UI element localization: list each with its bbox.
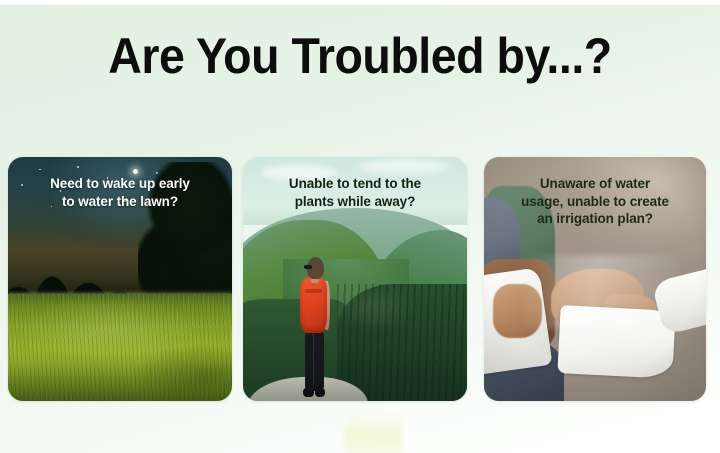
card-night-lawn[interactable]: Need to wake up early to water the lawn? [8, 157, 232, 401]
card-documents[interactable]: Unaware of water usage, unable to create… [484, 157, 706, 401]
hiker-legs [305, 328, 324, 391]
page-title: Are You Troubled by...? [25, 28, 695, 84]
card-caption: Unable to tend to the plants while away? [249, 175, 461, 210]
grass-shadow [8, 362, 232, 401]
top-white-strip [0, 0, 720, 5]
right-forest [337, 284, 467, 401]
card-caption: Need to wake up early to water the lawn? [14, 175, 226, 210]
hiker-head [307, 257, 324, 279]
card-hiker[interactable]: Unable to tend to the plants while away? [243, 157, 467, 401]
card-caption: Unaware of water usage, unable to create… [490, 175, 700, 228]
red-backpack [300, 277, 327, 333]
card-row: Need to wake up early to water the lawn? [8, 157, 712, 401]
bottom-pale-band [345, 413, 402, 453]
cloud-shape [359, 159, 449, 174]
slide-canvas: Are You Troubled by...? [0, 0, 720, 453]
